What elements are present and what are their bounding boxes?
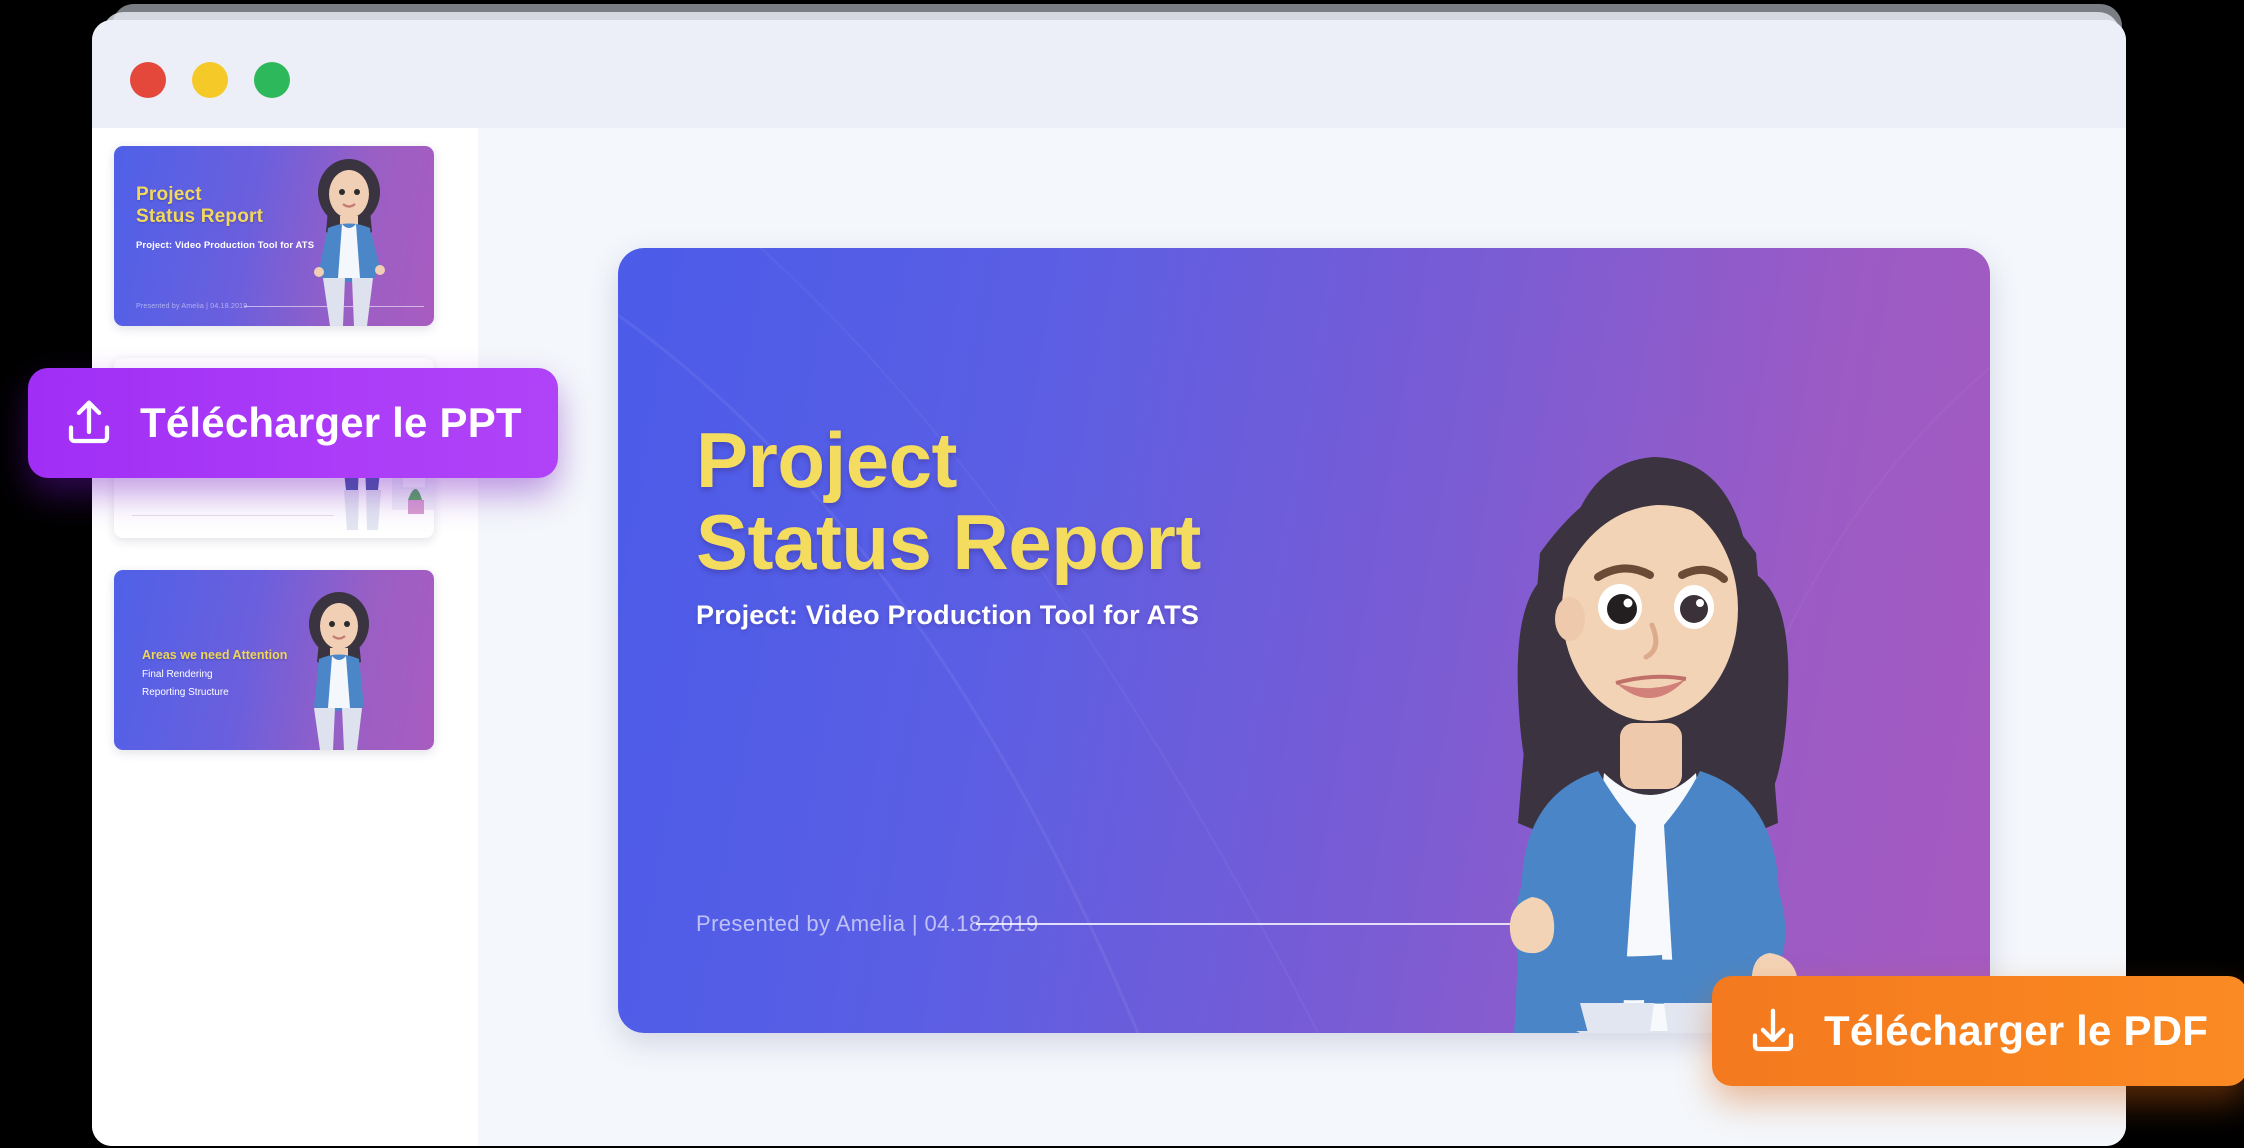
minimize-button-icon[interactable] xyxy=(192,62,228,98)
active-slide[interactable]: Project Status Report Project: Video Pro… xyxy=(618,248,1990,1033)
window-titlebar xyxy=(92,20,2126,128)
screenshot-stage: Project Status Report Project: Video Pro… xyxy=(0,0,2244,1148)
thumb1-title-line1: Project xyxy=(136,184,202,205)
thumb3-line-1: Final Rendering xyxy=(142,669,213,680)
slide-thumbnail-1[interactable]: Project Status Report Project: Video Pro… xyxy=(114,146,434,326)
slide-title-line2: Status Report xyxy=(696,498,1201,586)
download-pdf-button[interactable]: Télécharger le PDF xyxy=(1712,976,2244,1086)
slide-subtitle: Project: Video Production Tool for ATS xyxy=(696,600,1199,631)
maximize-button-icon[interactable] xyxy=(254,62,290,98)
download-ppt-button[interactable]: Télécharger le PPT xyxy=(28,368,558,478)
thumb3-line-2: Reporting Structure xyxy=(142,687,229,698)
thumb3-title: Areas we need Attention xyxy=(142,648,287,662)
upload-icon xyxy=(62,396,116,450)
download-icon xyxy=(1746,1004,1800,1058)
download-pdf-label: Télécharger le PDF xyxy=(1824,1007,2208,1055)
slide-thumbnail-3[interactable]: Areas we need Attention Final Rendering … xyxy=(114,570,434,750)
thumb1-footer: Presented by Amelia | 04.18.2019 xyxy=(136,303,247,310)
presenter-character-illustration xyxy=(1428,393,1868,1033)
slide-title: Project Status Report xyxy=(696,420,1201,584)
close-button-icon[interactable] xyxy=(130,62,166,98)
presenter-character-illustration xyxy=(290,158,408,326)
thumb1-title: Project Status Report xyxy=(136,184,263,227)
presenter-character-illustration xyxy=(284,590,394,750)
slide-thumbnail-sidebar[interactable]: Project Status Report Project: Video Pro… xyxy=(92,128,478,1146)
thumb1-title-line2: Status Report xyxy=(136,206,263,227)
traffic-light-group xyxy=(130,62,290,98)
download-ppt-label: Télécharger le PPT xyxy=(140,399,522,447)
slide-title-line1: Project xyxy=(696,416,957,504)
thumb1-subtitle: Project: Video Production Tool for ATS xyxy=(136,240,314,251)
